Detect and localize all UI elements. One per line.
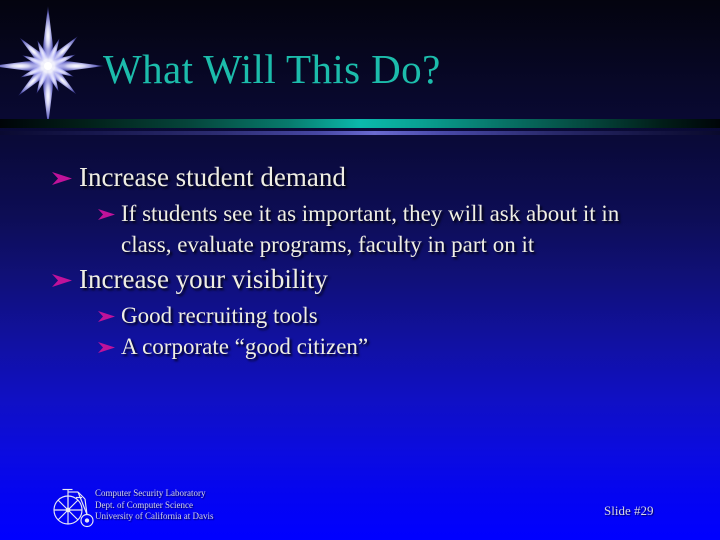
penny-farthing-bicycle-icon xyxy=(52,483,94,529)
bullet-text: If students see it as important, they wi… xyxy=(121,198,672,260)
divider-teal xyxy=(0,119,720,128)
footer-affiliation: Computer Security Laboratory Dept. of Co… xyxy=(95,488,213,523)
arrow-bullet-icon xyxy=(98,209,115,220)
bullet-item: Increase student demand xyxy=(52,158,672,196)
presentation-slide: What Will This Do? Increase student dema… xyxy=(0,0,720,540)
title-area: What Will This Do? xyxy=(0,40,720,110)
divider-purple xyxy=(0,131,720,135)
slide-number: Slide #29 xyxy=(604,503,653,519)
bullet-text: Increase your visibility xyxy=(79,260,328,298)
bullet-item: A corporate “good citizen” xyxy=(98,331,672,362)
footer-line-2: Dept. of Computer Science xyxy=(95,500,213,512)
bullet-text: Good recruiting tools xyxy=(121,300,318,331)
footer-line-3: University of California at Davis xyxy=(95,511,213,523)
bullet-text: A corporate “good citizen” xyxy=(121,331,368,362)
page-title: What Will This Do? xyxy=(103,40,441,98)
arrow-bullet-icon xyxy=(98,342,115,353)
arrow-bullet-icon xyxy=(98,311,115,322)
bullet-text: Increase student demand xyxy=(79,158,346,196)
arrow-bullet-icon xyxy=(52,172,72,185)
bullet-item: Good recruiting tools xyxy=(98,300,672,331)
bullet-item: If students see it as important, they wi… xyxy=(98,198,672,260)
slide-body: Increase student demand If students see … xyxy=(52,158,672,362)
arrow-bullet-icon xyxy=(52,274,72,287)
footer-line-1: Computer Security Laboratory xyxy=(95,488,213,500)
bullet-item: Increase your visibility xyxy=(52,260,672,298)
